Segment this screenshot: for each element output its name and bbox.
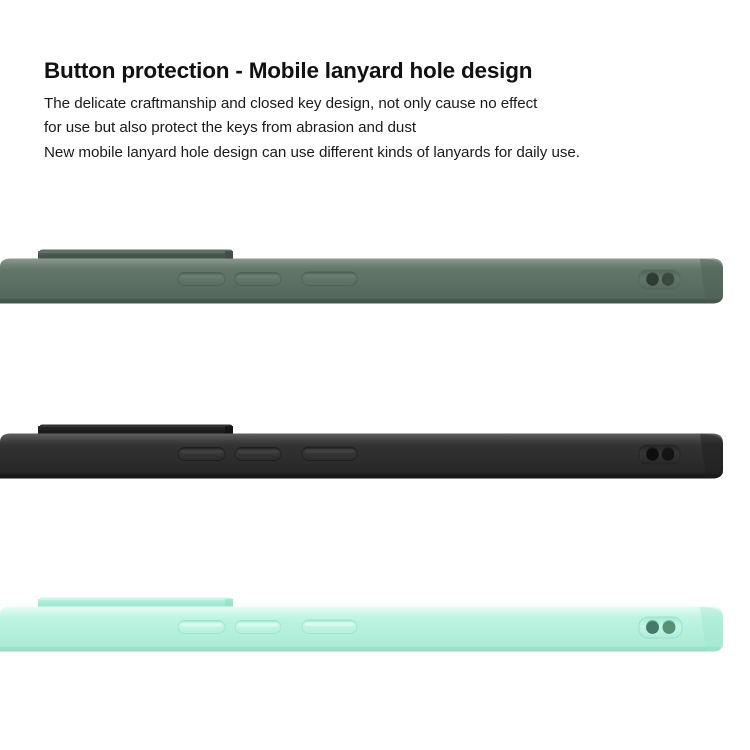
case-body-mint — [0, 607, 723, 652]
side-buttons-green — [178, 272, 357, 286]
lanyard-hole-group-green — [639, 270, 680, 289]
camera-bump-green — [38, 250, 233, 261]
description-line-1: The delicate craftmanship and closed key… — [44, 92, 712, 117]
lanyard-hole-group-black — [639, 445, 680, 464]
phone-side-profile-green — [0, 240, 750, 320]
product-detail-page: Button protection - Mobile lanyard hole … — [0, 0, 750, 750]
product-image-variant-black — [0, 415, 750, 495]
phone-side-profile-mint — [0, 588, 750, 668]
product-image-variant-mint — [0, 588, 750, 668]
phone-side-profile-black — [0, 415, 750, 495]
description-line-3: New mobile lanyard hole design can use d… — [44, 141, 712, 166]
side-buttons-black — [178, 447, 357, 461]
side-buttons-mint — [178, 620, 357, 634]
camera-bump-mint — [38, 598, 233, 609]
camera-bump-black — [38, 425, 233, 436]
case-body-black — [0, 434, 723, 479]
description-line-2: for use but also protect the keys from a… — [44, 116, 712, 141]
lanyard-hole-group-mint — [639, 617, 682, 638]
case-body-green — [0, 259, 723, 304]
product-image-variant-green — [0, 240, 750, 320]
page-title: Button protection - Mobile lanyard hole … — [44, 58, 712, 85]
feature-text-block: Button protection - Mobile lanyard hole … — [44, 58, 712, 165]
